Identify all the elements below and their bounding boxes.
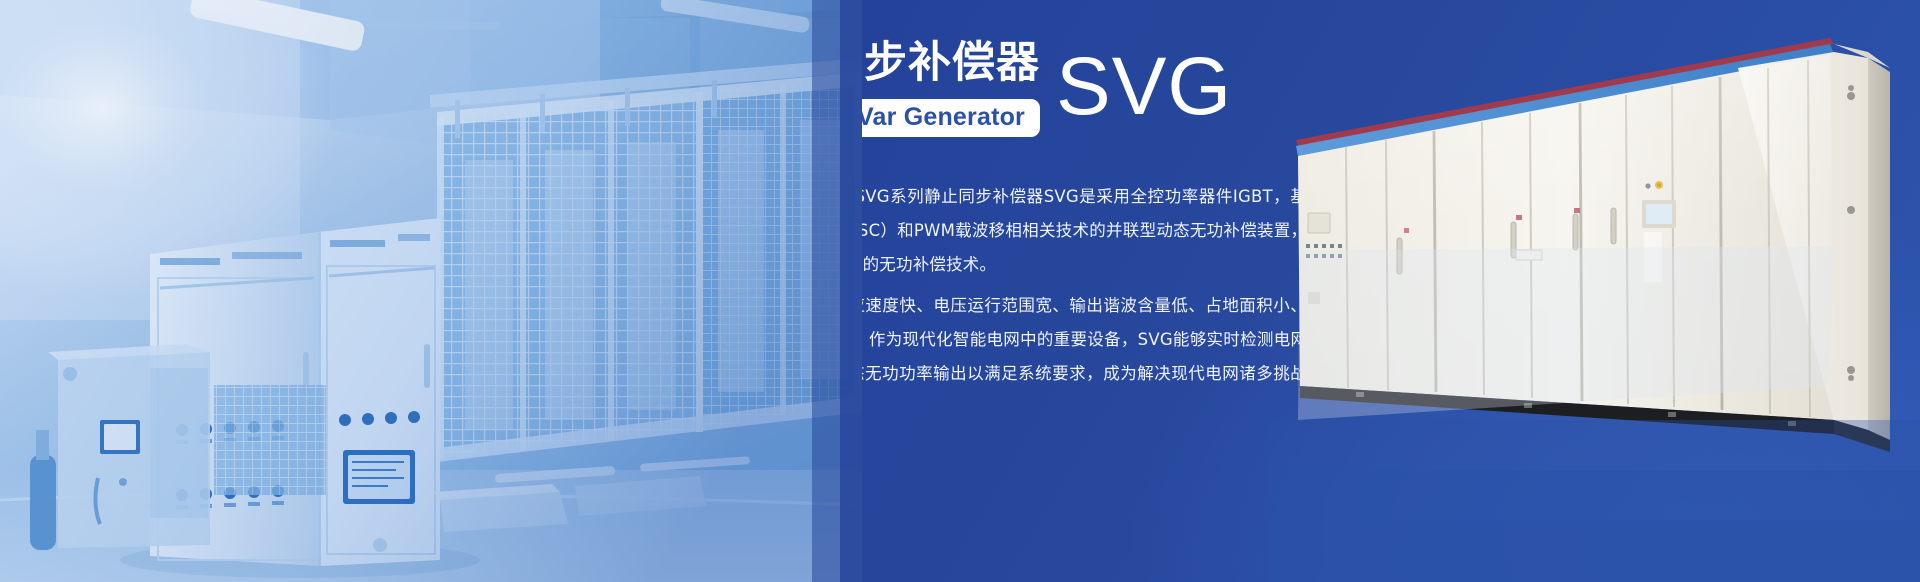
content-panel: 静止同步补偿器 Static Var Generator SVG 华瑞清能HRS… [862, 0, 1920, 582]
product-photo [1268, 0, 1920, 582]
product-abbreviation: SVG [1056, 48, 1232, 127]
page-title: 静止同步补偿器 [862, 38, 1040, 89]
product-cabinet-illustration [1268, 0, 1920, 582]
description-paragraph-1: 华瑞清能HRSVG系列静止同步补偿器SVG是采用全控功率器件IGBT，基于电压源… [862, 180, 1324, 282]
facility-photo [0, 0, 862, 582]
facility-photo-panel [0, 0, 862, 582]
headline-text-group: 静止同步补偿器 Static Var Generator [862, 36, 1040, 137]
description-paragraph-2: SVG具有响应速度快、电压运行范围宽、输出谐波含量低、占地面积小、功率 损耗小等… [862, 289, 1324, 425]
svg-product-banner: 静止同步补偿器 Static Var Generator SVG 华瑞清能HRS… [0, 0, 1920, 582]
subtitle-badge: Static Var Generator [862, 99, 1040, 138]
description-copy: 华瑞清能HRSVG系列静止同步补偿器SVG是采用全控功率器件IGBT，基于电压源… [862, 180, 1324, 425]
